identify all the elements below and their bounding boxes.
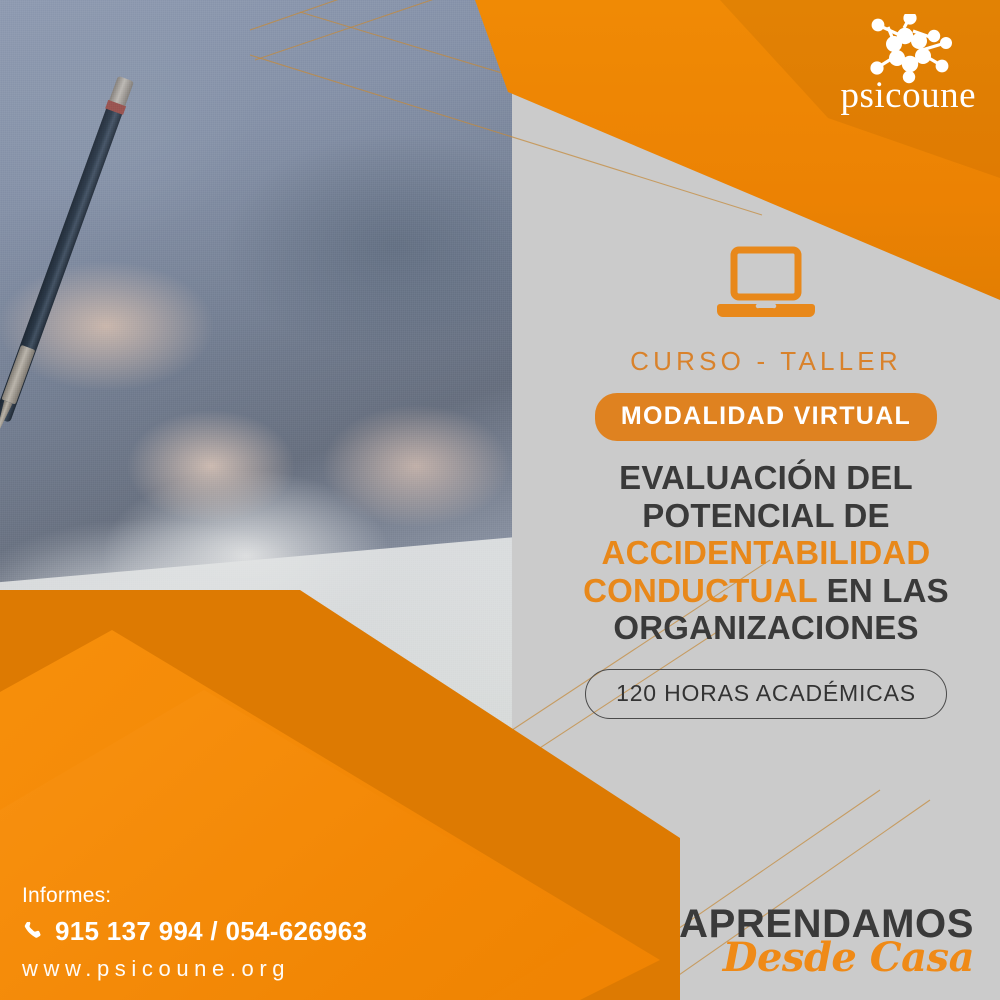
brand-logo[interactable]: psicoune [818,14,978,112]
contact-phone-numbers: 915 137 994 / 054-626963 [55,916,367,947]
contact-block: Informes: 915 137 994 / 054-626963 www.p… [22,884,442,982]
phone-icon [22,920,45,943]
slogan-block: APRENDAMOS Desde Casa [679,904,974,978]
poster: psicoune CURSO - TALLER MODALIDAD VIRTUA… [0,0,1000,1000]
modality-badge: MODALIDAD VIRTUAL [595,393,937,441]
logo-wordmark: psicoune [818,77,976,114]
contact-website[interactable]: www.psicoune.org [22,956,442,982]
molecule-network-icon [818,14,978,84]
slogan-line-2: Desde Casa [679,938,974,978]
title-highlight-2: CONDUCTUAL [583,572,817,609]
title-line-4: ORGANIZACIONES [613,609,918,646]
contact-phone-row[interactable]: 915 137 994 / 054-626963 [22,916,442,947]
title-line-3-tail: EN LAS [817,572,949,609]
title-line-2: POTENCIAL DE [642,497,889,534]
course-hours-badge: 120 HORAS ACADÉMICAS [585,669,947,719]
title-line-1: EVALUACIÓN DEL [619,459,913,496]
laptop-icon [716,246,816,322]
title-highlight-1: ACCIDENTABILIDAD [602,534,931,571]
course-title: EVALUACIÓN DEL POTENCIAL DE ACCIDENTABIL… [560,459,972,647]
course-kicker: CURSO - TALLER [560,346,972,377]
course-content: CURSO - TALLER MODALIDAD VIRTUAL EVALUAC… [560,246,972,719]
contact-label: Informes: [22,884,442,908]
